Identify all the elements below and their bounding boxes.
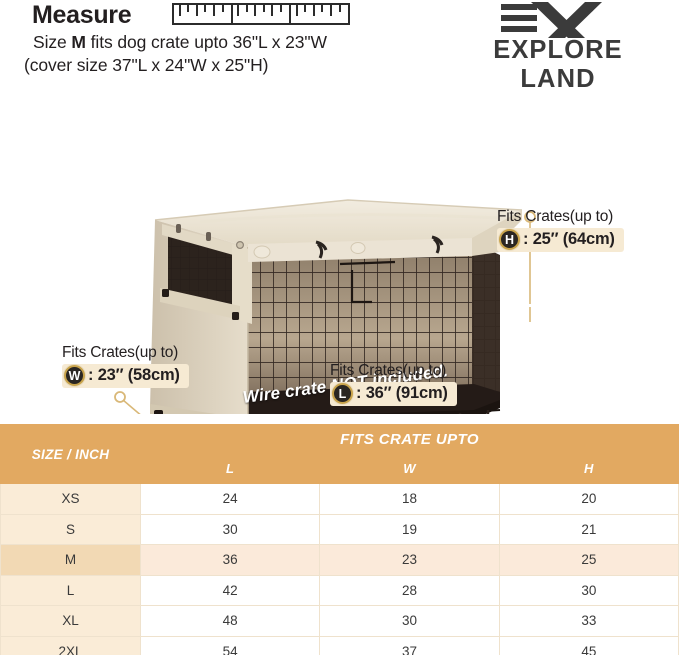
table-row-highlighted: M 36 23 25 <box>1 545 679 576</box>
callout-height: Fits Crates(up to) H : 25″ (64cm) <box>497 208 624 252</box>
callout-width-separator: : <box>88 366 93 384</box>
size-desc-pre: Size <box>33 32 71 52</box>
ruler-segment <box>174 5 233 23</box>
page-title: Measure <box>32 1 131 30</box>
header-col-h: H <box>499 454 678 484</box>
cell-size: S <box>1 514 141 545</box>
table-row: XL 48 30 33 <box>1 606 679 637</box>
cell-length: 24 <box>141 484 320 515</box>
callout-height-value-row: H : 25″ (64cm) <box>497 228 624 252</box>
width-badge-icon: W <box>64 365 85 386</box>
size-desc-post: fits dog crate upto 36"L x 23"W <box>86 32 327 52</box>
callout-length-value-row: L : 36″ (91cm) <box>330 382 457 406</box>
cell-width: 28 <box>320 575 499 606</box>
ruler-icon <box>172 3 350 25</box>
table-row: 2XL 54 37 45 <box>1 636 679 655</box>
callout-width-value: : 23″ (58cm) <box>88 366 180 385</box>
height-badge-icon: H <box>499 229 520 250</box>
callout-length-separator: : <box>356 384 361 402</box>
cell-width: 37 <box>320 636 499 655</box>
callout-width-measure: 23″ (58cm) <box>98 366 180 384</box>
cell-size: XS <box>1 484 141 515</box>
callout-width-value-row: W : 23″ (58cm) <box>62 364 189 388</box>
cell-length: 54 <box>141 636 320 655</box>
size-chart-table: SIZE / INCH FITS CRATE UPTO L W H XS 24 … <box>0 424 679 655</box>
cell-length: 30 <box>141 514 320 545</box>
callout-length-value: : 36″ (91cm) <box>356 384 448 403</box>
cell-size: L <box>1 575 141 606</box>
cell-height: 21 <box>499 514 678 545</box>
table-row: L 42 28 30 <box>1 575 679 606</box>
cell-height: 30 <box>499 575 678 606</box>
ex-monogram-icon <box>501 2 621 38</box>
cell-height: 33 <box>499 606 678 637</box>
callout-width-title: Fits Crates(up to) <box>62 344 189 362</box>
callout-height-measure: 25″ (64cm) <box>533 230 615 248</box>
callout-width: Fits Crates(up to) W : 23″ (58cm) <box>62 344 189 388</box>
callout-length-title: Fits Crates(up to) <box>330 362 457 380</box>
size-desc-letter: M <box>71 32 85 52</box>
callout-length-measure: 36″ (91cm) <box>366 384 448 402</box>
cell-size: 2XL <box>1 636 141 655</box>
table-body: XS 24 18 20 S 30 19 21 M 36 23 25 L 42 2… <box>1 484 679 655</box>
cell-width: 30 <box>320 606 499 637</box>
brand-wordmark: EXPLORE LAND <box>453 36 663 94</box>
cell-length: 36 <box>141 545 320 576</box>
header-fits-crate-upto: FITS CRATE UPTO <box>141 425 679 454</box>
registered-trademark-icon: ® <box>586 3 594 15</box>
table-head: SIZE / INCH FITS CRATE UPTO L W H <box>1 425 679 484</box>
infographic-root: Measure Size M fits dog crate upto 36"L … <box>0 0 679 655</box>
cell-width: 18 <box>320 484 499 515</box>
callout-height-separator: : <box>523 230 528 248</box>
cell-height: 20 <box>499 484 678 515</box>
ruler-segment <box>233 5 292 23</box>
cell-height: 25 <box>499 545 678 576</box>
cover-size-line: (cover size 37"L x 24"W x 25"H) <box>24 55 268 76</box>
table-header-row-1: SIZE / INCH FITS CRATE UPTO <box>1 425 679 454</box>
cell-size: XL <box>1 606 141 637</box>
header-col-l: L <box>141 454 320 484</box>
cell-width: 23 <box>320 545 499 576</box>
cell-height: 45 <box>499 636 678 655</box>
brand-logo: ® EXPLORE LAND <box>453 2 663 72</box>
header-col-w: W <box>320 454 499 484</box>
length-badge-icon: L <box>332 383 353 404</box>
cell-size: M <box>1 545 141 576</box>
cell-length: 42 <box>141 575 320 606</box>
size-description-line1: Size M fits dog crate upto 36"L x 23"W <box>33 32 327 53</box>
table-row: XS 24 18 20 <box>1 484 679 515</box>
header-section: Measure Size M fits dog crate upto 36"L … <box>0 0 679 92</box>
cell-width: 19 <box>320 514 499 545</box>
header-size-inch: SIZE / INCH <box>1 425 141 484</box>
callout-height-title: Fits Crates(up to) <box>497 208 624 226</box>
table-row: S 30 19 21 <box>1 514 679 545</box>
callout-length: Fits Crates(up to) L : 36″ (91cm) <box>330 362 457 406</box>
callout-height-value: : 25″ (64cm) <box>523 230 615 249</box>
cell-length: 48 <box>141 606 320 637</box>
ruler-segment <box>291 5 348 23</box>
